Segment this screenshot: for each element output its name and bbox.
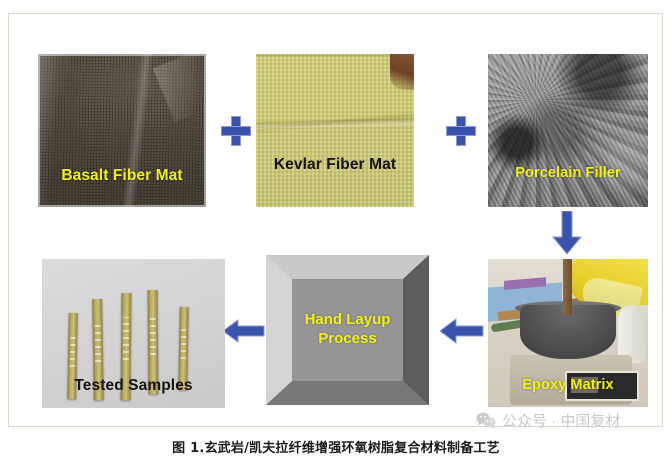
photo-epoxy-matrix: Epoxy Matrix	[488, 259, 648, 407]
arrow-left-icon-epoxy	[440, 318, 484, 344]
arrow-left-icon-samples	[223, 319, 265, 343]
arrow-down-icon	[552, 211, 582, 255]
photo-label-basalt-fiber-mat: Basalt Fiber Mat	[38, 167, 206, 185]
figure-caption: 图 1.玄武岩/凯夫拉纤维增强环氧树脂复合材料制备工艺	[0, 437, 672, 456]
hand-layup-process-label: Hand Layup Process	[305, 311, 391, 349]
photo-basalt-fiber-mat: Basalt Fiber Mat	[38, 54, 206, 207]
hand-layup-process-box: Hand Layup Process	[266, 255, 429, 405]
figure-frame: Basalt Fiber Mat Kevlar Fiber Mat Porcel…	[8, 13, 663, 427]
photo-label-tested-samples: Tested Samples	[42, 377, 225, 395]
watermark-text: 公众号 · 中国复材	[502, 410, 620, 431]
box-face: Hand Layup Process	[292, 279, 403, 381]
plus-icon-2	[446, 116, 476, 146]
photo-label-kevlar-fiber-mat: Kevlar Fiber Mat	[256, 156, 414, 174]
photo-kevlar-fiber-mat: Kevlar Fiber Mat	[256, 54, 414, 207]
plus-icon-1	[221, 116, 251, 146]
wechat-icon	[476, 412, 496, 429]
photo-label-epoxy-matrix: Epoxy Matrix	[488, 377, 648, 393]
photo-label-porcelain-filler: Porcelain Filler	[488, 165, 648, 181]
photo-tested-samples: Tested Samples	[42, 259, 225, 408]
photo-porcelain-filler: Porcelain Filler	[488, 54, 648, 207]
watermark: 公众号 · 中国复材	[476, 410, 620, 431]
stirring-rod	[563, 259, 572, 315]
